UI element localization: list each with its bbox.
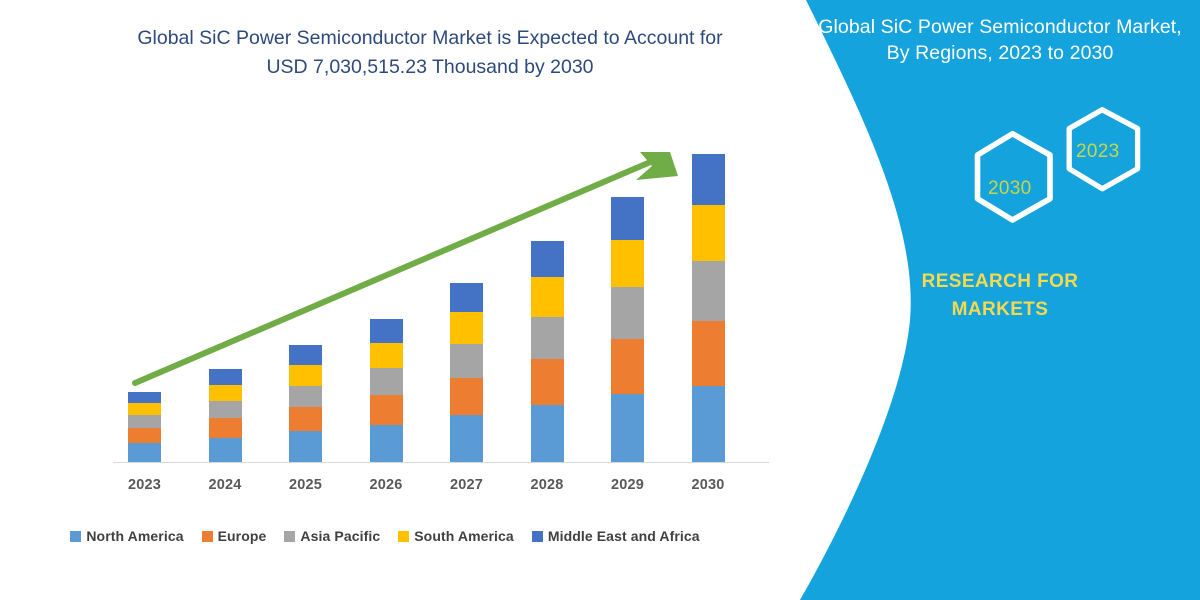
brand-line-2: MARKETS xyxy=(800,296,1200,324)
bar-segment-2030-south-america xyxy=(692,205,725,261)
bar-segment-2026-north-america xyxy=(370,425,403,462)
legend-item-north-america[interactable]: North America xyxy=(70,528,183,544)
bar-2024 xyxy=(209,369,242,462)
legend-swatch-icon xyxy=(202,531,213,542)
bar-segment-2024-middle-east-and-africa xyxy=(209,369,242,384)
bar-segment-2024-asia-pacific xyxy=(209,401,242,418)
panel-heading: Global SiC Power Semiconductor Market, B… xyxy=(810,14,1190,66)
legend-swatch-icon xyxy=(532,531,543,542)
legend-label: Europe xyxy=(218,528,267,544)
hexagon-badges: 2023 2030 xyxy=(950,105,1170,235)
bar-segment-2027-north-america xyxy=(450,415,483,462)
stacked-bar-group xyxy=(0,0,800,600)
bar-segment-2025-south-america xyxy=(289,365,322,386)
bar-segment-2026-middle-east-and-africa xyxy=(370,319,403,343)
bar-segment-2027-south-america xyxy=(450,312,483,344)
bar-segment-2027-middle-east-and-africa xyxy=(450,283,483,312)
bar-segment-2025-asia-pacific xyxy=(289,386,322,408)
legend-label: Asia Pacific xyxy=(300,528,380,544)
bar-segment-2028-south-america xyxy=(531,277,564,316)
bar-segment-2030-middle-east-and-africa xyxy=(692,154,725,205)
bar-segment-2028-asia-pacific xyxy=(531,317,564,360)
bar-2023 xyxy=(128,392,161,462)
bar-segment-2025-north-america xyxy=(289,431,322,462)
bar-2029 xyxy=(611,197,644,462)
legend-item-middle-east-and-africa[interactable]: Middle East and Africa xyxy=(532,528,700,544)
x-axis-label-2024: 2024 xyxy=(185,477,265,493)
legend-swatch-icon xyxy=(398,531,409,542)
legend-swatch-icon xyxy=(284,531,295,542)
bar-2026 xyxy=(370,319,403,462)
bar-segment-2028-europe xyxy=(531,359,564,405)
x-axis-label-2023: 2023 xyxy=(105,477,185,493)
bar-2027 xyxy=(450,283,483,462)
hexagon-outline-icons xyxy=(950,105,1170,235)
bar-segment-2028-middle-east-and-africa xyxy=(531,241,564,277)
bar-segment-2025-europe xyxy=(289,407,322,431)
x-axis-label-2028: 2028 xyxy=(507,477,587,493)
bar-2030 xyxy=(692,154,725,462)
bar-segment-2023-south-america xyxy=(128,403,161,415)
bar-segment-2029-south-america xyxy=(611,240,644,287)
x-axis-label-2025: 2025 xyxy=(266,477,346,493)
bar-segment-2024-europe xyxy=(209,418,242,438)
bar-segment-2023-asia-pacific xyxy=(128,415,161,428)
bar-2025 xyxy=(289,345,322,462)
bar-segment-2026-south-america xyxy=(370,343,403,368)
bar-segment-2028-north-america xyxy=(531,405,564,462)
legend-label: North America xyxy=(86,528,183,544)
x-axis-label-2029: 2029 xyxy=(588,477,668,493)
brand-logotype: RESEARCH FOR MARKETS xyxy=(800,268,1200,324)
bar-segment-2023-north-america xyxy=(128,443,161,462)
x-axis-label-2030: 2030 xyxy=(668,477,748,493)
chart-legend: North AmericaEuropeAsia PacificSouth Ame… xyxy=(0,528,770,544)
legend-swatch-icon xyxy=(70,531,81,542)
bar-segment-2026-europe xyxy=(370,395,403,424)
bar-2028 xyxy=(531,241,564,462)
bar-segment-2029-europe xyxy=(611,339,644,395)
x-axis-label-2027: 2027 xyxy=(427,477,507,493)
bar-segment-2027-asia-pacific xyxy=(450,344,483,378)
legend-label: South America xyxy=(414,528,514,544)
bar-segment-2030-europe xyxy=(692,321,725,385)
x-axis-label-2026: 2026 xyxy=(346,477,426,493)
bar-segment-2023-europe xyxy=(128,428,161,443)
bar-segment-2030-asia-pacific xyxy=(692,261,725,321)
bar-segment-2029-asia-pacific xyxy=(611,287,644,338)
infographic-canvas: Global SiC Power Semiconductor Market, B… xyxy=(0,0,1200,600)
brand-line-1: RESEARCH FOR xyxy=(800,268,1200,296)
x-axis-tick-labels: 20232024202520262027202820292030 xyxy=(0,477,800,499)
legend-label: Middle East and Africa xyxy=(548,528,700,544)
bar-segment-2026-asia-pacific xyxy=(370,368,403,395)
bar-segment-2024-south-america xyxy=(209,385,242,401)
hex-badge-2023: 2023 xyxy=(1076,141,1119,163)
chart-plot-area: 20232024202520262027202820292030 xyxy=(0,0,800,600)
legend-item-europe[interactable]: Europe xyxy=(202,528,267,544)
bar-segment-2029-middle-east-and-africa xyxy=(611,197,644,241)
bar-segment-2023-middle-east-and-africa xyxy=(128,392,161,403)
bar-segment-2025-middle-east-and-africa xyxy=(289,345,322,365)
legend-item-south-america[interactable]: South America xyxy=(398,528,514,544)
right-panel: Global SiC Power Semiconductor Market, B… xyxy=(800,0,1200,600)
bar-segment-2029-north-america xyxy=(611,394,644,462)
bar-segment-2027-europe xyxy=(450,378,483,415)
legend-item-asia-pacific[interactable]: Asia Pacific xyxy=(284,528,380,544)
bar-segment-2030-north-america xyxy=(692,386,725,462)
bar-segment-2024-north-america xyxy=(209,438,242,462)
hex-badge-2030: 2030 xyxy=(988,178,1031,200)
